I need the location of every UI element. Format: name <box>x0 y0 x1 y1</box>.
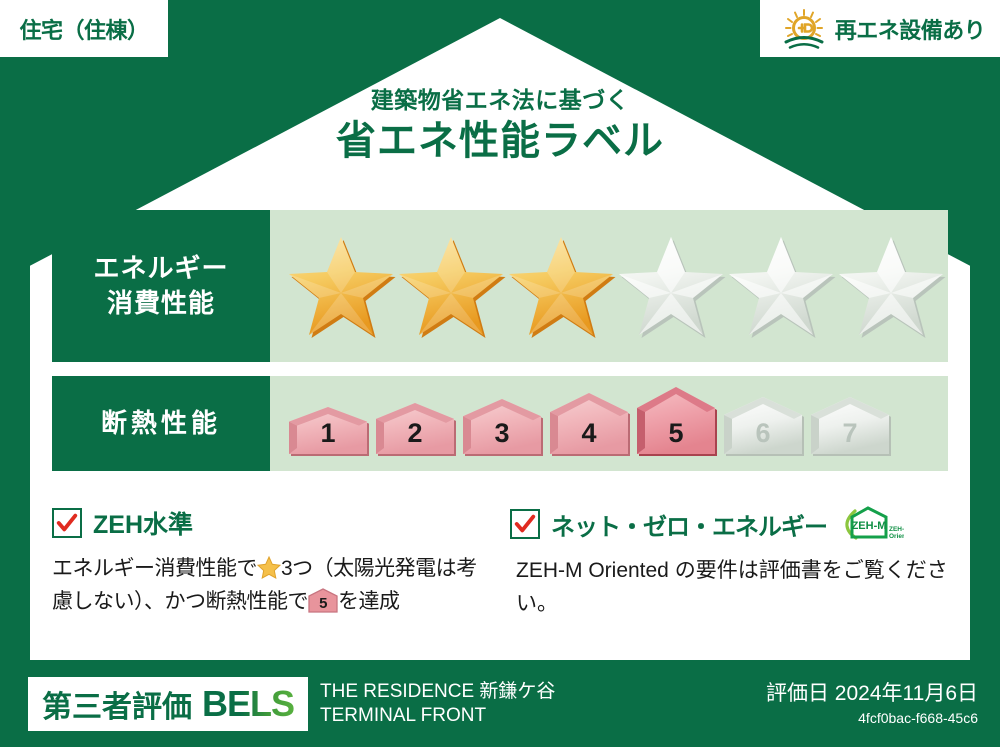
zeh-standard-checkbox <box>52 508 82 538</box>
inline-star-icon <box>257 556 281 579</box>
zeh-m-oriented-logo: ZEH-M ZEH-M Oriented <box>842 505 904 543</box>
star-empty-icon <box>836 233 946 339</box>
criterion-net-zero-energy: ネット・ゼロ・エネルギー ZEH-M ZEH-M Oriented ZEH-M … <box>510 505 950 623</box>
insulation-label: 断熱性能 <box>101 406 221 441</box>
evaluation-info: 評価日 2024年11月6日 4fcf0bac-f668-45c6 <box>766 681 978 726</box>
insulation-level-marker: 7 <box>808 395 892 457</box>
criterion-zeh-standard: ZEH水準 エネルギー消費性能で3つ（太陽光発電は考慮しない）、かつ断熱性能で5… <box>52 505 492 623</box>
footer-bar: 第三者評価 BELS THE RESIDENCE 新鎌ケ谷 TERMINAL F… <box>0 660 1000 747</box>
insulation-level-number: 4 <box>547 418 631 449</box>
renewable-energy-label: 再エネ設備あり <box>835 13 986 45</box>
insulation-level-marker: 1 <box>286 405 370 457</box>
label-title-block: 建築物省エネ法に基づく 省エネ性能ラベル <box>0 88 1000 163</box>
insulation-level-number: 5 <box>634 418 718 449</box>
insulation-performance-label-cell: 断熱性能 <box>52 376 270 471</box>
svg-text:5: 5 <box>319 595 327 612</box>
energy-label-line2: 消費性能 <box>107 286 215 321</box>
star-filled-icon <box>506 233 616 339</box>
zeh-standard-title: ZEH水準 <box>93 505 193 541</box>
svg-text:ZEH-M: ZEH-M <box>852 520 887 532</box>
building-type-label: 住宅（住棟） <box>19 13 148 45</box>
insulation-level-number: 6 <box>721 418 805 449</box>
evaluation-date: 評価日 2024年11月6日 <box>766 681 978 706</box>
evaluation-id: 4fcf0bac-f668-45c6 <box>766 710 978 726</box>
insulation-level-number: 2 <box>373 418 457 449</box>
star-empty-icon <box>616 233 726 339</box>
insulation-level-marker: 3 <box>460 397 544 457</box>
zeh-standard-description: エネルギー消費性能で3つ（太陽光発電は考慮しない）、かつ断熱性能で5を達成 <box>52 553 492 623</box>
energy-performance-label-cell: エネルギー 消費性能 <box>52 210 270 362</box>
zeh-desc-post: を達成 <box>338 590 400 613</box>
third-party-eval-label: 第三者評価 <box>42 682 192 726</box>
insulation-level-marker: 2 <box>373 401 457 457</box>
star-rating-group <box>270 210 948 362</box>
insulation-level-scale: 1234567 <box>286 385 892 463</box>
zeh-desc-pre: エネルギー消費性能で <box>52 557 257 580</box>
energy-label-line1: エネルギー <box>93 251 228 286</box>
inline-insulation-level-icon: 5 <box>308 595 338 618</box>
rating-rows: エネルギー 消費性能 断熱性能 1234567 <box>52 210 948 485</box>
star-empty-icon <box>726 233 836 339</box>
net-zero-energy-title: ネット・ゼロ・エネルギー <box>551 507 827 542</box>
criteria-section: ZEH水準 エネルギー消費性能で3つ（太陽光発電は考慮しない）、かつ断熱性能で5… <box>52 505 952 623</box>
label-main-title: 省エネ性能ラベル <box>0 119 1000 163</box>
energy-performance-row: エネルギー 消費性能 <box>52 210 948 362</box>
net-zero-energy-description: ZEH-M Oriented の要件は評価書をご覧ください。 <box>510 555 950 620</box>
insulation-level-number: 3 <box>460 418 544 449</box>
bels-wordmark: BELS <box>202 683 294 725</box>
energy-performance-label: 住宅（住棟） 再エ <box>0 0 1000 747</box>
net-zero-energy-checkbox <box>510 509 540 539</box>
building-name: THE RESIDENCE 新鎌ケ谷 TERMINAL FRONT <box>320 680 620 728</box>
check-icon <box>56 512 78 534</box>
svg-text:Oriented: Oriented <box>889 533 904 540</box>
solar-renewable-energy-icon <box>781 8 827 50</box>
star-filled-icon <box>396 233 506 339</box>
building-type-badge: 住宅（住棟） <box>0 0 168 57</box>
insulation-level-number: 1 <box>286 418 370 449</box>
star-filled-icon <box>286 233 396 339</box>
renewable-energy-badge: 再エネ設備あり <box>760 0 1000 57</box>
check-icon <box>514 513 536 535</box>
svg-text:ZEH-M: ZEH-M <box>889 526 904 533</box>
label-subtitle: 建築物省エネ法に基づく <box>0 88 1000 113</box>
insulation-level-marker: 5 <box>634 385 718 457</box>
insulation-performance-row: 断熱性能 1234567 <box>52 376 948 471</box>
insulation-level-marker: 6 <box>721 395 805 457</box>
insulation-level-marker: 4 <box>547 391 631 457</box>
bels-logo-box: 第三者評価 BELS <box>28 677 308 731</box>
insulation-level-number: 7 <box>808 418 892 449</box>
